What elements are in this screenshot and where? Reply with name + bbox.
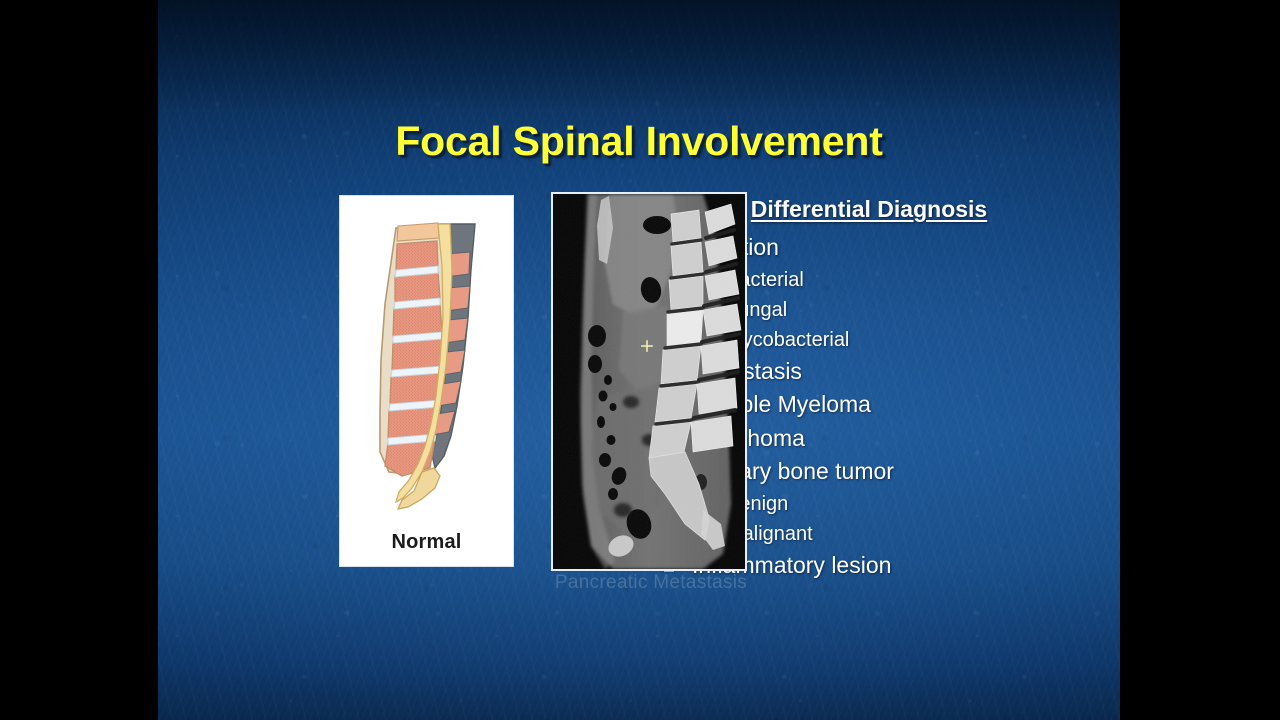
ct-sagittal-image: [553, 194, 745, 569]
letterbox-left: [0, 0, 158, 720]
slide-viewer: Focal Spinal Involvement: [0, 0, 1280, 720]
ct-image-panel: [551, 192, 747, 571]
letterbox-right: [1120, 0, 1280, 720]
presentation-slide: Focal Spinal Involvement: [158, 0, 1120, 720]
slide-title: Focal Spinal Involvement: [158, 118, 1120, 165]
normal-figure-label: Normal: [340, 531, 513, 554]
normal-spine-figure-panel: Normal: [340, 196, 513, 566]
ct-image-caption: Pancreatic Metastasis: [531, 572, 771, 594]
spine-anatomy-illustration: [340, 200, 513, 520]
